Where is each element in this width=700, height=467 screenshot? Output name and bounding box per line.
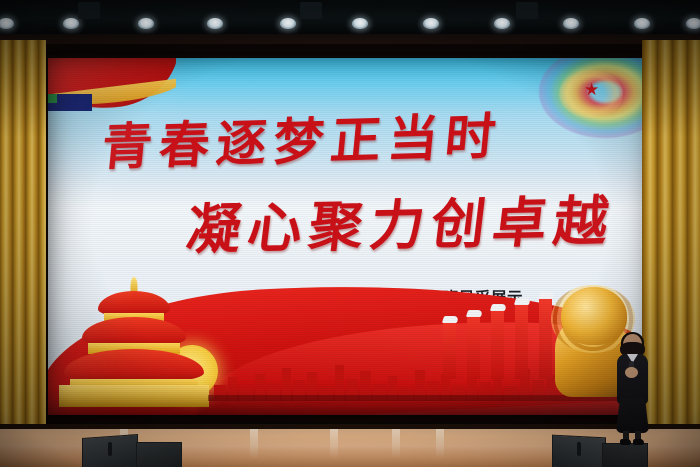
light-truss <box>300 2 322 19</box>
stage-light-rig <box>0 18 700 34</box>
presenter-shoe <box>620 439 631 445</box>
floor-light-streak <box>436 429 444 459</box>
spotlight-icon <box>63 18 79 29</box>
floor-light-streak <box>250 429 258 459</box>
spotlight-icon <box>634 18 650 29</box>
spotlight-icon <box>138 18 154 29</box>
stage-curtain-left <box>0 40 46 428</box>
presenter-hands <box>625 367 638 378</box>
floor-light-streak <box>330 429 338 459</box>
speaker-handle <box>108 442 112 456</box>
presenter-skirt <box>616 398 649 433</box>
speaker-handle <box>577 442 581 456</box>
spotlight-icon <box>0 18 14 29</box>
spotlight-icon <box>280 18 296 29</box>
spotlight-icon <box>686 18 700 29</box>
stage-monitor-speaker <box>82 434 138 467</box>
spotlight-icon <box>352 18 368 29</box>
light-truss <box>516 2 538 19</box>
presenter-shoe <box>633 439 644 445</box>
spotlight-icon <box>423 18 439 29</box>
auditorium-stage-photo: ★ 青春逐梦正当时 凝心聚力创卓越 ——财经学院财务管理243班风采展示 汇报人… <box>0 0 700 467</box>
spotlight-icon <box>563 18 579 29</box>
frame-shadow <box>34 44 666 424</box>
floor-light-streak <box>392 429 400 459</box>
stage-monitor-speaker <box>602 443 648 467</box>
spotlight-icon <box>207 18 223 29</box>
stage-monitor-speaker <box>552 435 606 467</box>
light-truss <box>78 2 100 19</box>
spotlight-icon <box>494 18 510 29</box>
presenter <box>610 334 654 446</box>
stage-monitor-speaker <box>136 442 182 467</box>
